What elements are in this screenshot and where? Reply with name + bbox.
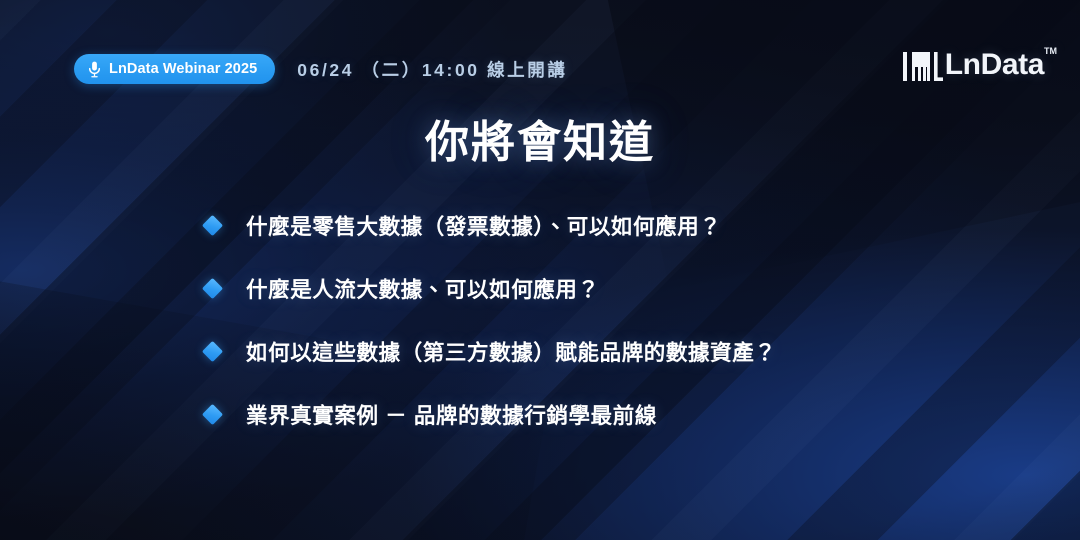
webinar-badge: LnData Webinar 2025 [74,54,275,84]
list-item: 什麼是零售大數據（發票數據）、可以如何應用？ [200,194,1020,257]
slide-header: LnData Webinar 2025 06/24 （二）14:00 線上開講 [74,54,567,84]
lndata-logo: LnData TM [903,50,1044,82]
webinar-badge-label: LnData Webinar 2025 [109,61,257,77]
diamond-bullet-icon [202,215,223,236]
logo-wordmark-text: LnData [945,48,1044,81]
list-item: 如何以這些數據（第三方數據）賦能品牌的數據資產？ [200,320,1020,383]
diamond-bullet-icon [202,278,223,299]
logo-wordmark: LnData TM [945,50,1044,80]
slide-title: 你將會知道 [0,106,1080,170]
bullet-text: 什麼是人流大數據、可以如何應用？ [246,273,600,304]
diamond-bullet-icon [202,404,223,425]
trademark-symbol: TM [1044,47,1057,56]
webinar-schedule-text: 06/24 （二）14:00 線上開講 [297,57,567,82]
bar-chart-logo-mark [903,51,943,82]
microphone-icon [88,61,101,78]
bullet-text: 業界真實案例 － 品牌的數據行銷學最前線 [246,399,657,430]
bullet-text: 什麼是零售大數據（發票數據）、可以如何應用？ [246,210,721,241]
bullet-list: 什麼是零售大數據（發票數據）、可以如何應用？ 什麼是人流大數據、可以如何應用？ … [200,194,1020,446]
diamond-bullet-icon [202,341,223,362]
list-item: 什麼是人流大數據、可以如何應用？ [200,257,1020,320]
bullet-text: 如何以這些數據（第三方數據）賦能品牌的數據資產？ [246,336,776,367]
list-item: 業界真實案例 － 品牌的數據行銷學最前線 [200,383,1020,446]
webinar-slide: LnData Webinar 2025 06/24 （二）14:00 線上開講 … [0,0,1080,540]
